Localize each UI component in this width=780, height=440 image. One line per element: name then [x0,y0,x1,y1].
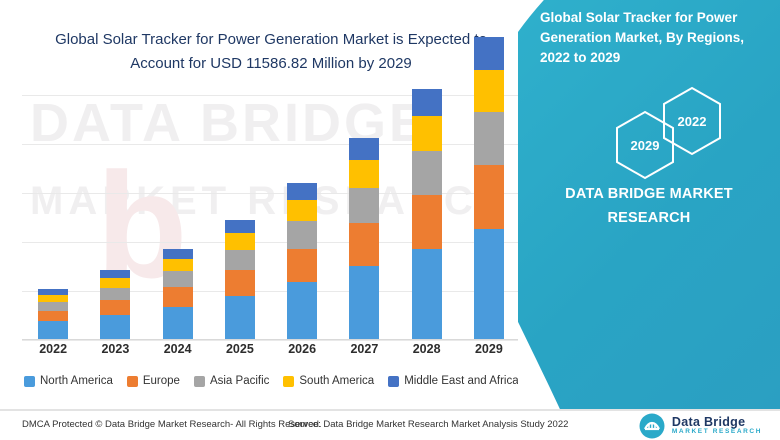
bar-group [163,249,193,339]
gridline [22,291,520,292]
x-axis-tick-label: 2029 [459,342,519,356]
bar-segment [349,266,379,339]
legend-label: South America [299,375,374,387]
bar-group [412,89,442,339]
legend-swatch [283,376,294,387]
bar-segment [38,311,68,322]
gridline [22,144,520,145]
legend-item[interactable]: Asia Pacific [194,375,269,387]
x-axis-tick-label: 2025 [210,342,270,356]
footer-brand-tagline: MARKET RESEARCH [672,429,762,436]
x-axis-tick-label: 2023 [85,342,145,356]
bar-segment [412,249,442,339]
bar-segment [38,295,68,302]
bar-segment [163,271,193,287]
bar-segment [163,307,193,339]
footer-copyright: DMCA Protected © Data Bridge Market Rese… [22,419,322,430]
bar-segment [287,200,317,222]
bar-segment [225,296,255,339]
hex-badge-2029-label: 2029 [614,110,676,180]
hex-badge-2029: 2029 [614,110,676,180]
bar-segment [225,233,255,250]
bar-segment [287,282,317,339]
bar-segment [412,116,442,151]
bar-segment [412,151,442,195]
footer-source: Source: Data Bridge Market Research Mark… [288,419,568,430]
bar-segment [474,112,504,165]
infographic-root: DATA BRIDGE MARKET RESEARCH b Global Sol… [0,0,780,440]
gridline [22,242,520,243]
legend-swatch [194,376,205,387]
legend-item[interactable]: Middle East and Africa [388,375,518,387]
bar-segment [349,160,379,188]
bar-segment [38,302,68,311]
bar-segment [412,89,442,115]
bar-segment [100,270,130,278]
x-axis-tick-label: 2024 [148,342,208,356]
legend-item[interactable]: South America [283,375,374,387]
legend-item[interactable]: Europe [127,375,180,387]
bar-segment [100,315,130,340]
bar-segment [349,138,379,160]
bar-group [100,270,130,339]
legend-label: Asia Pacific [210,375,269,387]
bar-segment [163,287,193,307]
legend-label: North America [40,375,113,387]
bar-segment [287,221,317,248]
panel-title: Global Solar Tracker for Power Generatio… [540,8,766,68]
bar-segment [163,259,193,272]
bar-group [349,138,379,339]
gridline [22,193,520,194]
bar-group [474,37,504,339]
legend-label: Middle East and Africa [404,375,518,387]
bar-segment [474,229,504,339]
legend-swatch [127,376,138,387]
gridline [22,340,520,341]
x-axis-tick-labels: 20222023202420252026202720282029 [22,342,520,362]
legend-label: Europe [143,375,180,387]
panel-brand: DATA BRIDGE MARKET RESEARCH [518,182,780,230]
bar-segment [474,37,504,69]
footer: DMCA Protected © Data Bridge Market Rese… [0,410,780,440]
data-bridge-logo-icon [639,413,665,439]
bar-segment [412,195,442,249]
x-axis-tick-label: 2028 [397,342,457,356]
legend-swatch [24,376,35,387]
bar-segment [225,220,255,233]
bar-segment [349,223,379,266]
bar-segment [100,278,130,288]
panel-brand-line2: RESEARCH [518,206,780,230]
bar-segment [100,300,130,315]
panel-brand-line1: DATA BRIDGE MARKET [518,182,780,206]
x-axis-tick-label: 2022 [23,342,83,356]
chart-legend: North AmericaEuropeAsia PacificSouth Ame… [24,372,544,390]
bar-segment [225,250,255,271]
bar-segment [38,321,68,339]
bar-segment [287,183,317,200]
bar-segment [163,249,193,259]
footer-brand: Data Bridge MARKET RESEARCH [639,413,762,439]
bar-segment [474,165,504,230]
bar-segment [100,288,130,300]
bar-group [38,289,68,339]
x-axis-tick-label: 2026 [272,342,332,356]
bar-segment [287,249,317,282]
gridline [22,95,520,96]
bar-segment [349,188,379,223]
right-info-panel: Global Solar Tracker for Power Generatio… [518,0,780,410]
chart-plot-area [22,95,520,340]
bar-group [225,220,255,339]
page-title: Global Solar Tracker for Power Generatio… [36,28,506,76]
legend-swatch [388,376,399,387]
bar-group [287,183,317,339]
x-axis-tick-label: 2027 [334,342,394,356]
footer-brand-text: Data Bridge MARKET RESEARCH [672,416,762,436]
bar-segment [225,270,255,295]
legend-item[interactable]: North America [24,375,113,387]
bar-segment [474,70,504,112]
